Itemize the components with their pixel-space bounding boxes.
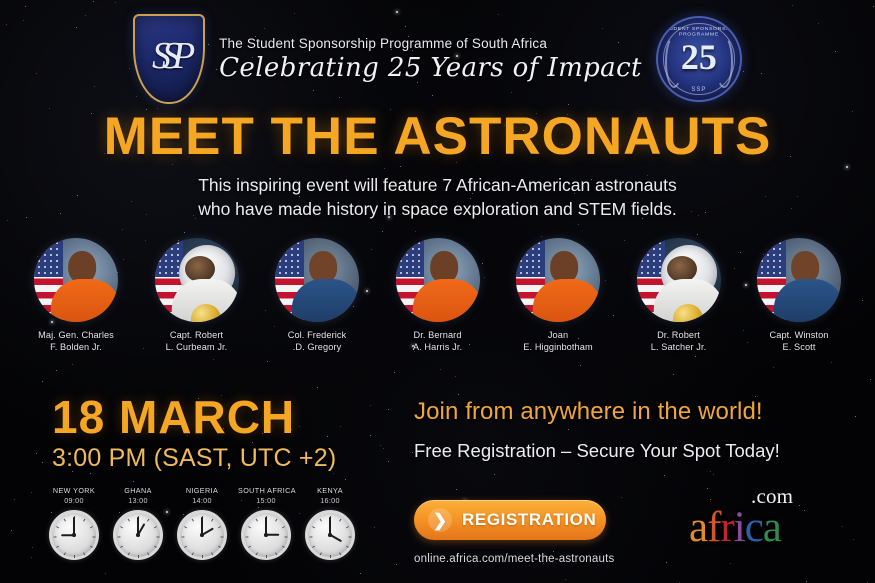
registration-button[interactable]: ❯ REGISTRATION: [414, 500, 606, 540]
poster-canvas: SSP The Student Sponsorship Programme of…: [0, 0, 875, 583]
anniversary-tagline: Celebrating 25 Years of Impact: [219, 53, 642, 83]
page-title: MEET THE ASTRONAUTS: [0, 106, 875, 167]
header-text-group: The Student Sponsorship Programme of Sou…: [219, 36, 642, 83]
clock-time-label: 15:00: [238, 496, 294, 505]
brand-letter: c: [745, 504, 763, 551]
brand-wordmark: africa: [689, 506, 839, 549]
astronaut-name-line-2: E. Higginbotham: [508, 341, 608, 353]
astronaut-suit: [533, 279, 600, 322]
astronaut-name-line-1: Capt. Winston: [749, 329, 849, 341]
clock-time-label: 13:00: [110, 496, 166, 505]
astronaut-card: JoanE. Higginbotham: [508, 238, 608, 353]
clock-city-label: SOUTH AFRICA: [238, 486, 294, 495]
astronaut-name: Dr. BernardA. Harris Jr.: [388, 329, 488, 353]
flag-canton: [757, 238, 786, 277]
chevron-right-icon: ❯: [428, 508, 452, 532]
cta-text-block: Join from anywhere in the world! Free Re…: [414, 398, 780, 462]
clock-time-label: 16:00: [302, 496, 358, 505]
astronaut-suit: [774, 279, 841, 322]
brand-letter: f: [707, 504, 720, 551]
event-date: 18 MARCH: [52, 392, 336, 442]
astronaut-card: Dr. BernardA. Harris Jr.: [388, 238, 488, 353]
astronaut-suit: [292, 279, 359, 322]
astronaut-name: Maj. Gen. CharlesF. Bolden Jr.: [26, 329, 126, 353]
astronaut-name-line-1: Dr. Bernard: [388, 329, 488, 341]
clock-face: [49, 510, 99, 560]
astronaut-name-line-2: L. Satcher Jr.: [629, 341, 729, 353]
astronaut-suit: [412, 279, 479, 322]
astronaut-name: Col. Frederick.D. Gregory: [267, 329, 367, 353]
astronaut-card: Col. Frederick.D. Gregory: [267, 238, 367, 353]
event-description-line-2: who have made history in space explorati…: [0, 197, 875, 221]
clock-time-label: 09:00: [46, 496, 102, 505]
clock-center-pin: [328, 533, 332, 537]
brand-letter: r: [720, 504, 733, 551]
brand-letter: a: [689, 504, 707, 551]
flag-canton: [516, 238, 545, 277]
clock-face: [177, 510, 227, 560]
astronaut-name-line-1: Dr. Robert: [629, 329, 729, 341]
world-clock: NIGERIA14:00: [174, 486, 230, 560]
clock-face: [241, 510, 291, 560]
world-clock-row: NEW YORK09:00GHANA13:00NIGERIA14:00SOUTH…: [46, 486, 358, 560]
event-date-block: 18 MARCH 3:00 PM (SAST, UTC +2): [52, 392, 336, 473]
astronaut-name: Dr. RobertL. Satcher Jr.: [629, 329, 729, 353]
astronaut-portrait: [637, 238, 721, 322]
clock-city-label: GHANA: [110, 486, 166, 495]
ssp-shield-logo: SSP: [133, 14, 205, 104]
world-clock: KENYA16:00: [302, 486, 358, 560]
astronaut-card: Maj. Gen. CharlesF. Bolden Jr.: [26, 238, 126, 353]
astronaut-portrait: [516, 238, 600, 322]
astronaut-list: Maj. Gen. CharlesF. Bolden Jr.Capt. Robe…: [26, 238, 849, 353]
clock-center-pin: [200, 533, 204, 537]
astronaut-portrait: [155, 238, 239, 322]
world-clock: GHANA13:00: [110, 486, 166, 560]
africa-com-logo: .com africa: [689, 486, 839, 549]
astronaut-card: Dr. RobertL. Satcher Jr.: [629, 238, 729, 353]
flag-canton: [275, 238, 304, 277]
registration-url[interactable]: online.africa.com/meet-the-astronauts: [414, 553, 614, 565]
astronaut-name: Capt. WinstonE. Scott: [749, 329, 849, 353]
astronaut-portrait: [757, 238, 841, 322]
event-time: 3:00 PM (SAST, UTC +2): [52, 444, 336, 473]
astronaut-name: JoanE. Higginbotham: [508, 329, 608, 353]
cta-subline: Free Registration – Secure Your Spot Tod…: [414, 440, 780, 462]
astronaut-name-line-1: Col. Frederick: [267, 329, 367, 341]
badge-sub-text: SSP: [658, 87, 740, 93]
cta-headline: Join from anywhere in the world!: [414, 398, 780, 426]
brand-letter: i: [734, 504, 745, 551]
clock-face: [113, 510, 163, 560]
astronaut-portrait: [275, 238, 359, 322]
astronaut-name-line-2: L. Curbeam Jr.: [147, 341, 247, 353]
event-description: This inspiring event will feature 7 Afri…: [0, 173, 875, 221]
astronaut-portrait: [34, 238, 118, 322]
clock-city-label: NEW YORK: [46, 486, 102, 495]
clock-city-label: NIGERIA: [174, 486, 230, 495]
clock-city-label: KENYA: [302, 486, 358, 495]
clock-center-pin: [136, 533, 140, 537]
astronaut-name-line-2: F. Bolden Jr.: [26, 341, 126, 353]
anniversary-badge-25: STUDENT SPONSORSHIP PROGRAMME 25 SSP: [656, 16, 742, 102]
event-description-line-1: This inspiring event will feature 7 Afri…: [0, 173, 875, 197]
brand-dotcom: .com: [751, 486, 839, 506]
clock-center-pin: [264, 533, 268, 537]
astronaut-card: Capt. WinstonE. Scott: [749, 238, 849, 353]
brand-letter: a: [763, 504, 781, 551]
astronaut-portrait: [396, 238, 480, 322]
ssp-monogram: SSP: [133, 14, 205, 104]
flag-canton: [34, 238, 63, 277]
clock-hour-hand: [266, 534, 279, 536]
world-clock: NEW YORK09:00: [46, 486, 102, 560]
astronaut-name-line-2: .D. Gregory: [267, 341, 367, 353]
astronaut-name-line-1: Joan: [508, 329, 608, 341]
astronaut-name-line-2: E. Scott: [749, 341, 849, 353]
flag-canton: [396, 238, 425, 277]
astronaut-card: Capt. RobertL. Curbeam Jr.: [147, 238, 247, 353]
poster-header: SSP The Student Sponsorship Programme of…: [0, 14, 875, 104]
astronaut-name-line-1: Maj. Gen. Charles: [26, 329, 126, 341]
world-clock: SOUTH AFRICA15:00: [238, 486, 294, 560]
clock-face: [305, 510, 355, 560]
organisation-name: The Student Sponsorship Programme of Sou…: [219, 36, 642, 51]
astronaut-suit: [51, 279, 118, 322]
clock-time-label: 14:00: [174, 496, 230, 505]
registration-button-label: REGISTRATION: [462, 510, 596, 530]
clock-center-pin: [72, 533, 76, 537]
astronaut-name-line-2: A. Harris Jr.: [388, 341, 488, 353]
astronaut-name-line-1: Capt. Robert: [147, 329, 247, 341]
astronaut-name: Capt. RobertL. Curbeam Jr.: [147, 329, 247, 353]
